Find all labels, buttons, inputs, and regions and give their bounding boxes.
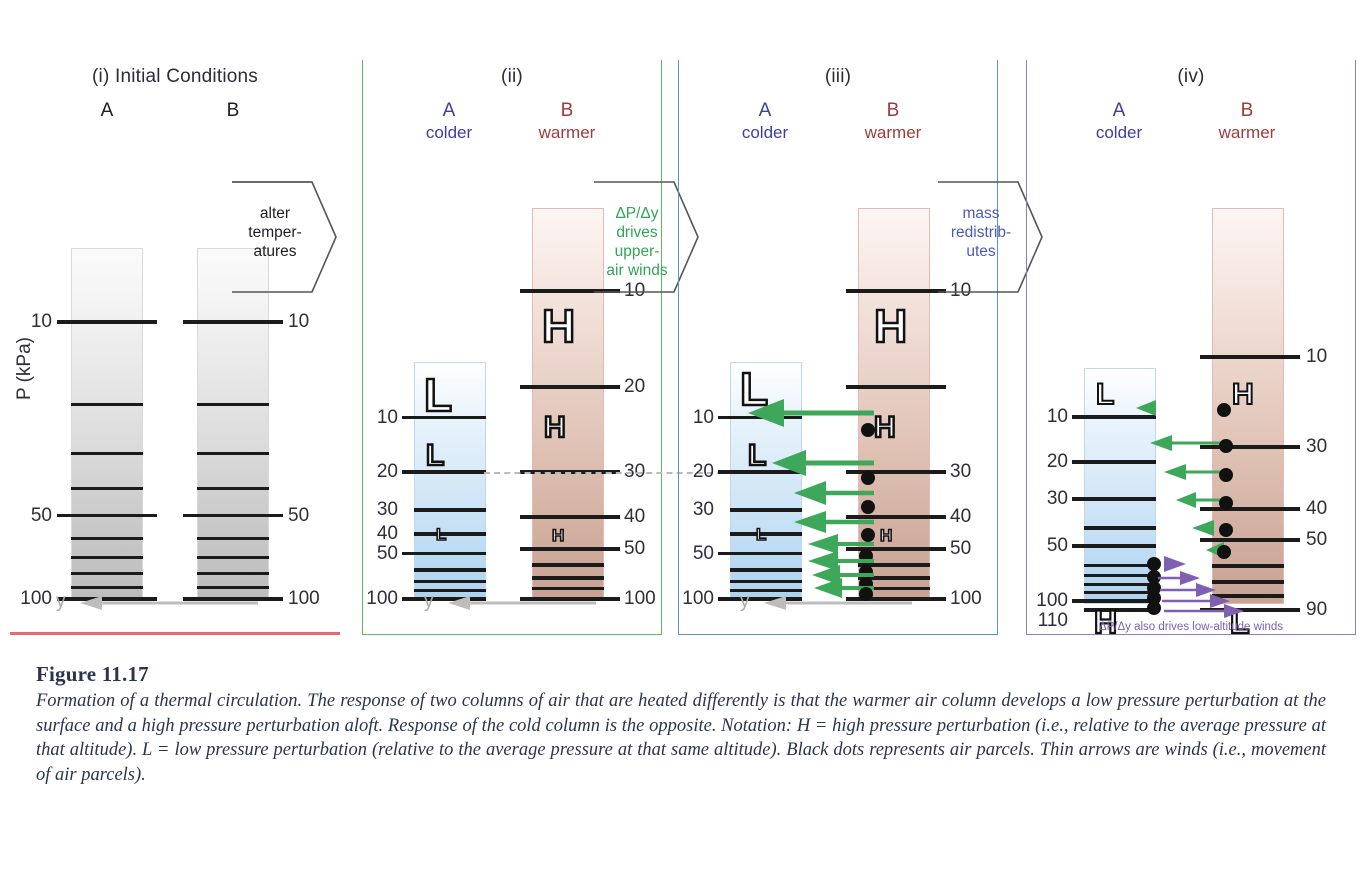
low-pressure-symbol: L [1096,380,1114,410]
air-parcel [1219,439,1233,453]
isobar [197,487,269,490]
pressure-label: 40 [624,506,645,528]
panel-i-column-b [197,248,269,598]
pressure-label: 50 [10,505,52,527]
isobar [197,586,269,589]
isobar [1084,583,1156,586]
pressure-label: 10 [10,311,52,333]
pressure-label: 50 [1306,529,1327,551]
transition-1-text: alter temper- atures [232,204,318,261]
pressure-label: 10 [358,407,398,429]
panel-i-y-axis: y [10,591,340,617]
low-pressure-symbol: L [424,372,452,418]
isobar [71,556,143,559]
isobar [183,320,283,324]
isobar [1212,564,1284,568]
pressure-label: 20 [1028,451,1068,473]
pressure-label: 20 [624,376,645,398]
air-parcel [1219,523,1233,537]
isobar [197,537,269,540]
caption-body: Formation of a thermal circulation. The … [36,689,1326,787]
high-pressure-symbol: H [542,303,575,349]
panel-ii-column-b-head: B warmer [528,100,606,144]
panel-iii-column-a-head: A colder [726,100,804,144]
panel-ii-column-a-head: A colder [410,100,488,144]
isobar [71,572,143,575]
high-pressure-symbol: H [874,413,896,443]
pressure-label: 20 [674,461,714,483]
air-parcel [1219,496,1233,510]
isobar [846,289,946,293]
y-axis-arrow-icon [80,595,260,611]
isobar [1084,574,1156,577]
isobar [1072,497,1156,501]
pressure-label: 10 [288,311,309,333]
air-parcel [861,423,875,437]
pressure-label: 50 [288,505,309,527]
isobar [532,576,604,580]
panel-mass-redistributed: (iv) A colder B warmer 10 [1026,60,1356,635]
high-pressure-symbol: H [1232,380,1254,410]
panel-iii-y-axis: y [678,591,998,617]
panel-iv-column-b-head: B warmer [1208,100,1286,144]
isobar [71,403,143,406]
isobar [532,587,604,590]
transition-3-text: mass redistrib- utes [938,204,1024,261]
isobar [520,547,620,551]
air-parcel [1217,545,1231,559]
isobar [1072,460,1156,464]
low-altitude-wind-arrow [1162,601,1246,621]
pressure-label: 50 [624,538,645,560]
isobar [197,572,269,575]
pressure-label: 10 [1306,346,1327,368]
isobar [846,385,946,389]
air-parcel [1147,601,1161,615]
high-pressure-symbol: H [880,527,892,544]
pressure-label: 50 [1028,535,1068,557]
isobar [414,508,486,512]
air-parcel [1217,403,1231,417]
upper-air-wind-arrow [1162,461,1224,483]
pressure-label: 50 [950,538,971,560]
high-pressure-symbol: H [874,303,907,349]
isobar [57,514,157,517]
panel-iii-title: (iii) [678,66,998,88]
pressure-label: 10 [1028,406,1068,428]
pressure-label: 40 [950,506,971,528]
isobar [414,568,486,572]
isobar [57,320,157,324]
isobar [183,514,283,517]
panel-iv-title: (iv) [1026,66,1356,88]
pressure-label: 20 [358,461,398,483]
pressure-label: 90 [1306,599,1327,621]
panel-i-column-a-head: A [68,100,146,122]
isobar [197,556,269,559]
isobar [197,403,269,406]
pressure-label: 30 [950,461,971,483]
transition-alter-temperatures: alter temper- atures [232,178,340,296]
y-axis-arrow-icon [764,595,914,611]
pressure-label: 40 [358,523,398,545]
caption-title: Figure 11.17 [36,662,1326,687]
pressure-label: 30 [674,499,714,521]
high-pressure-symbol: H [552,527,564,544]
panel-ii-y-axis: y [362,591,662,617]
isobar [520,515,620,519]
panel-i-title: (i) Initial Conditions [10,66,340,88]
figure-caption: Figure 11.17 Formation of a thermal circ… [36,662,1326,787]
air-parcel [1219,468,1233,482]
isobar [71,537,143,540]
upper-air-wind-arrow [1174,489,1224,511]
panel-upper-air-winds: (iii) A colder B warmer 10 2 [678,60,998,635]
isobar [414,532,486,536]
isobar [414,580,486,583]
low-pressure-symbol: L [426,441,444,471]
isobar [730,580,802,583]
isobar [197,452,269,455]
pressure-label: 100 [1016,590,1068,612]
panel-i-column-a [71,248,143,598]
pressure-label: 30 [358,499,398,521]
pressure-label: 40 [1306,498,1327,520]
isobar [1084,591,1156,594]
upper-air-wind-arrow [762,448,874,478]
isobar [730,568,802,572]
pressure-label: 30 [1306,436,1327,458]
isobar [1072,544,1156,548]
high-pressure-symbol: H [544,413,566,443]
y-axis-arrow-icon [448,595,598,611]
pressure-label: 50 [674,543,714,565]
upper-air-wind-arrow [1148,432,1224,454]
panel-iii-column-b-head: B warmer [854,100,932,144]
pressure-label: 30 [1028,488,1068,510]
upper-air-wind-arrow [1134,398,1164,418]
isobar [1084,564,1156,567]
isobar [1200,355,1300,359]
panel-iv-footnote: ΔP/Δy also drives low-altitude winds [1026,621,1356,633]
y-axis-label: y [740,591,750,613]
isobar [71,452,143,455]
isobar [1072,599,1156,603]
low-pressure-symbol: L [756,526,766,543]
isobar [1212,580,1284,584]
panel-iv-column-a-head: A colder [1080,100,1158,144]
y-axis-label: y [424,591,434,613]
isobar [402,552,486,555]
isobar [71,586,143,589]
y-axis-label: y [56,591,66,613]
isobar [532,563,604,567]
panel-initial-conditions: (i) Initial Conditions A B [10,60,340,635]
low-pressure-symbol: L [436,526,446,543]
isobar [71,487,143,490]
isobar [1084,526,1156,530]
panel-ii-title: (ii) [362,66,662,88]
pressure-label: 10 [674,407,714,429]
panel-temperature-altered: (ii) A colder B warmer [362,60,662,635]
isobar [718,552,802,555]
figure-diagram: P (kPa) (i) Initial Conditions A B [0,0,1368,650]
transition-2-text: ΔP/Δy drives upper- air winds [594,204,680,280]
panel-i-rule [10,60,340,635]
pressure-label: 50 [358,543,398,565]
panel-i-column-b-head: B [194,100,272,122]
isobar [520,385,620,389]
upper-air-wind-arrow [734,396,874,430]
